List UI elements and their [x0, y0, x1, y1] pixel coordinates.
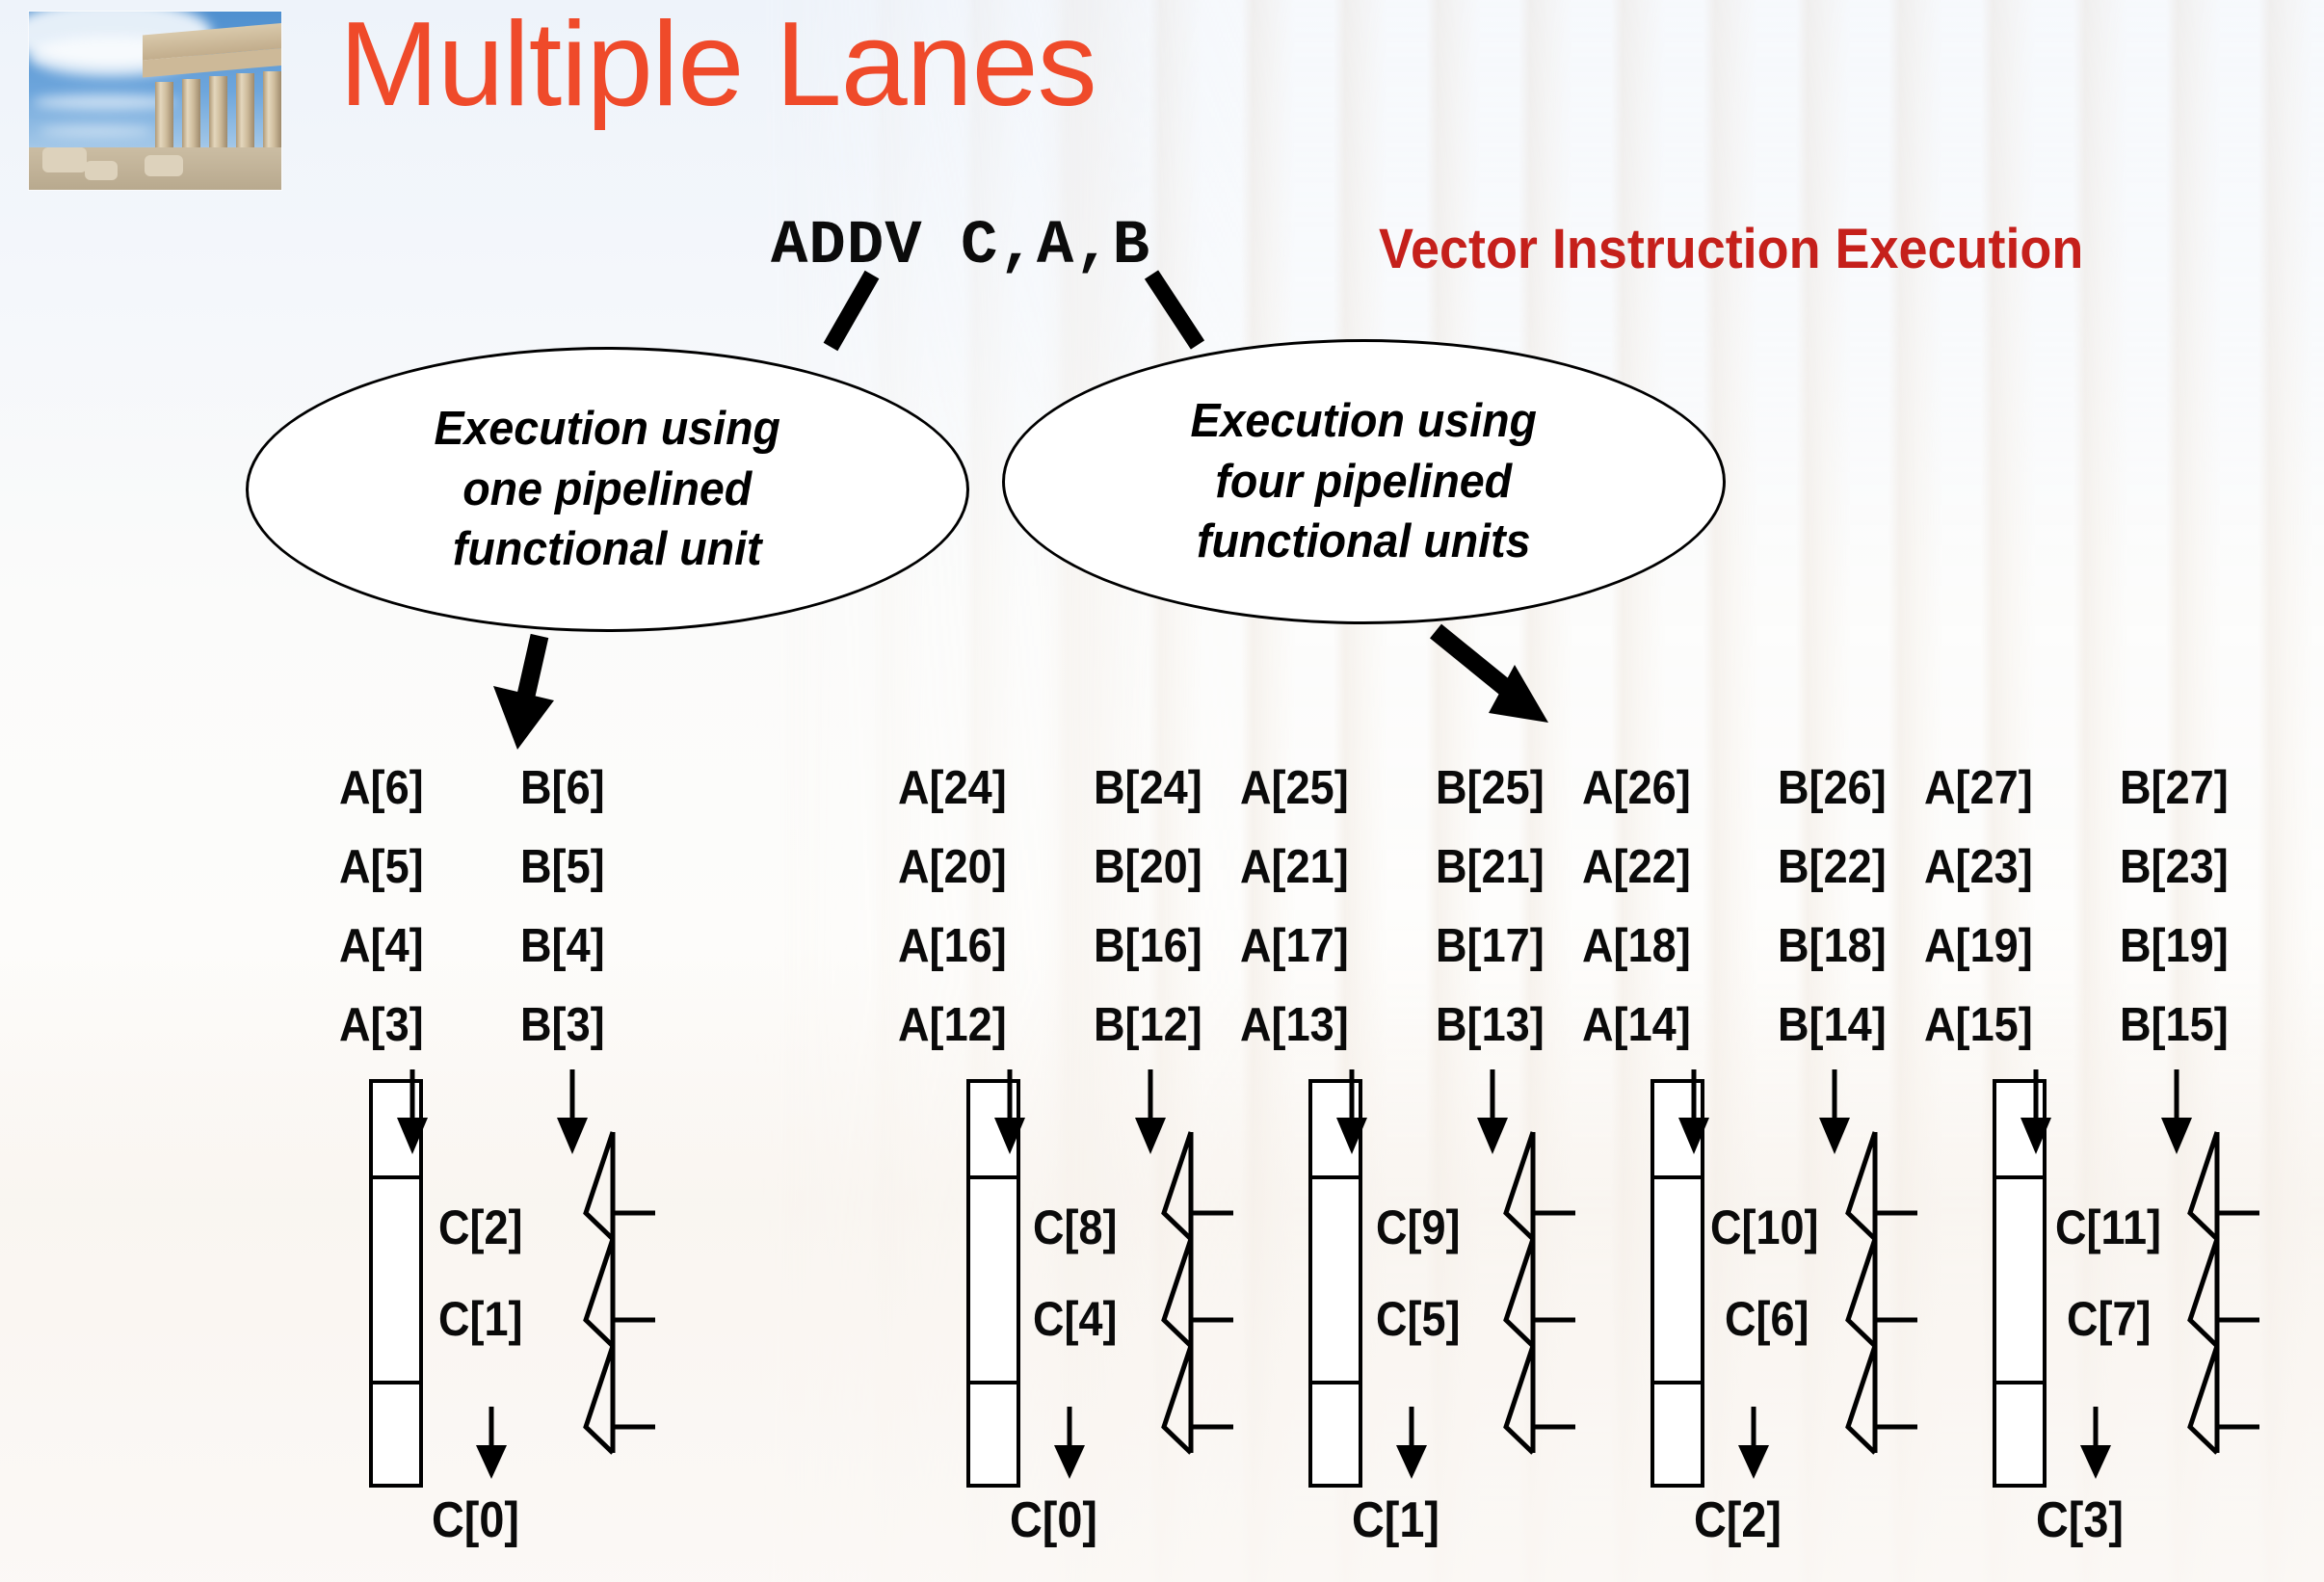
pipeline-lane-1: [968, 1069, 1233, 1486]
input-arrow-a-head: [994, 1118, 1025, 1154]
output-arrow-head: [1396, 1445, 1427, 1479]
pipeline-box: [1652, 1081, 1703, 1486]
pipeline-stage-label: C[6]: [1725, 1291, 1809, 1347]
pipeline-stage-label: C[1]: [438, 1291, 522, 1347]
pipeline-box: [1310, 1081, 1360, 1486]
operand-a: A[26]: [1582, 761, 1691, 815]
pipeline-stage-label: C[10]: [1710, 1200, 1819, 1255]
operand-a: A[24]: [898, 761, 1007, 815]
rock-shape: [145, 155, 183, 176]
pipeline-box: [968, 1081, 1018, 1486]
pipeline-stage-label: C[2]: [438, 1200, 522, 1255]
chevron: [2190, 1346, 2217, 1453]
output-arrow-head: [1738, 1445, 1769, 1479]
operand-a: A[4]: [339, 919, 424, 973]
pipeline-stage-label: C[9]: [1376, 1200, 1460, 1255]
operand-b: B[13]: [1436, 998, 1545, 1052]
chevron: [1506, 1132, 1533, 1239]
chevron: [586, 1346, 613, 1453]
chevron: [1164, 1239, 1191, 1346]
lane-output-label: C[0]: [432, 1491, 519, 1549]
parthenon-thumbnail-image: [29, 12, 281, 190]
input-arrow-a-head: [1336, 1118, 1367, 1154]
operand-a: A[14]: [1582, 998, 1691, 1052]
callout-four-pipelined-units: Execution usingfour pipelinedfunctional …: [1002, 339, 1726, 624]
chevron: [586, 1239, 613, 1346]
operand-a: A[18]: [1582, 919, 1691, 973]
output-arrow-head: [476, 1445, 507, 1479]
chevron: [1164, 1346, 1191, 1453]
operand-b: B[26]: [1778, 761, 1887, 815]
operand-b: B[3]: [520, 998, 605, 1052]
lane-output-label: C[0]: [1010, 1491, 1097, 1549]
input-arrow-a-head: [2020, 1118, 2051, 1154]
lane-output-label: C[3]: [2036, 1491, 2124, 1549]
chevron: [1848, 1132, 1875, 1239]
instruction-text: ADDV C,A,B: [771, 212, 1150, 281]
arrow-right-callout-to-operands: [1436, 631, 1548, 723]
rock-shape: [85, 161, 118, 180]
chevron: [2190, 1132, 2217, 1239]
operand-b: B[27]: [2120, 761, 2229, 815]
chevron: [1506, 1239, 1533, 1346]
pipeline-lane-4: [1994, 1069, 2259, 1486]
operand-b: B[22]: [1778, 840, 1887, 894]
operand-a: A[12]: [898, 998, 1007, 1052]
pipeline-stage-label: C[11]: [2055, 1200, 2161, 1255]
operand-b: B[12]: [1094, 998, 1202, 1052]
operand-a: A[13]: [1240, 998, 1349, 1052]
rock-shape: [42, 147, 87, 172]
operand-b: B[18]: [1778, 919, 1887, 973]
operand-a: A[19]: [1924, 919, 2033, 973]
lane-output-label: C[1]: [1352, 1491, 1439, 1549]
pipeline-stage-label: C[5]: [1376, 1291, 1460, 1347]
operand-b: B[4]: [520, 919, 605, 973]
operand-b: B[17]: [1436, 919, 1545, 973]
operand-b: B[19]: [2120, 919, 2229, 973]
operand-b: B[20]: [1094, 840, 1202, 894]
slide-canvas: Multiple Lanes ADDV C,A,B Vector Instruc…: [0, 0, 2324, 1582]
pipeline-lane-2: [1310, 1069, 1575, 1486]
pipeline-box: [371, 1081, 421, 1486]
callout-text: Execution usingfour pipelinedfunctional …: [1191, 391, 1538, 572]
input-arrow-b-head: [2161, 1118, 2192, 1154]
callout-text: Execution usingone pipelinedfunctional u…: [435, 399, 781, 580]
operand-a: A[25]: [1240, 761, 1349, 815]
input-arrow-b-head: [1477, 1118, 1508, 1154]
operand-b: B[21]: [1436, 840, 1545, 894]
pipeline-lane-3: [1652, 1069, 1917, 1486]
operand-a: A[5]: [339, 840, 424, 894]
operand-a: A[23]: [1924, 840, 2033, 894]
output-arrow-head: [2080, 1445, 2111, 1479]
chevron: [2190, 1239, 2217, 1346]
input-arrow-b-head: [557, 1118, 588, 1154]
chevron: [586, 1132, 613, 1239]
pipeline-stage-label: C[7]: [2067, 1291, 2151, 1347]
chevron: [1164, 1132, 1191, 1239]
chevron: [1506, 1346, 1533, 1453]
lane-output-label: C[2]: [1694, 1491, 1782, 1549]
input-arrow-b-head: [1135, 1118, 1166, 1154]
operand-b: B[15]: [2120, 998, 2229, 1052]
input-arrow-b-head: [1819, 1118, 1850, 1154]
operand-b: B[14]: [1778, 998, 1887, 1052]
operand-a: A[3]: [339, 998, 424, 1052]
operand-b: B[5]: [520, 840, 605, 894]
connector-addv-to-left-callout: [831, 275, 872, 347]
page-title: Multiple Lanes: [339, 2, 1096, 127]
pipeline-lane-single: [371, 1069, 655, 1486]
pipeline-stage-label: C[4]: [1033, 1291, 1117, 1347]
operand-a: A[6]: [339, 761, 424, 815]
operand-a: A[16]: [898, 919, 1007, 973]
operand-b: B[6]: [520, 761, 605, 815]
operand-a: A[17]: [1240, 919, 1349, 973]
operand-b: B[16]: [1094, 919, 1202, 973]
pipeline-box: [1994, 1081, 2045, 1486]
operand-a: A[15]: [1924, 998, 2033, 1052]
cloud-shape: [39, 125, 154, 137]
pipeline-stage-label: C[8]: [1033, 1200, 1117, 1255]
arrow-left-callout-to-operands: [493, 636, 554, 750]
operand-a: A[20]: [898, 840, 1007, 894]
output-arrow-head: [1054, 1445, 1085, 1479]
input-arrow-a-head: [397, 1118, 428, 1154]
operand-b: B[24]: [1094, 761, 1202, 815]
slide-subtitle: Vector Instruction Execution: [1379, 217, 2083, 281]
operand-a: A[21]: [1240, 840, 1349, 894]
chevron: [1848, 1239, 1875, 1346]
operand-b: B[23]: [2120, 840, 2229, 894]
operand-b: B[25]: [1436, 761, 1545, 815]
input-arrow-a-head: [1678, 1118, 1709, 1154]
operand-a: A[27]: [1924, 761, 2033, 815]
operand-a: A[22]: [1582, 840, 1691, 894]
callout-one-pipelined-unit: Execution usingone pipelinedfunctional u…: [246, 347, 969, 632]
connector-addv-to-right-callout: [1151, 275, 1198, 345]
chevron: [1848, 1346, 1875, 1453]
